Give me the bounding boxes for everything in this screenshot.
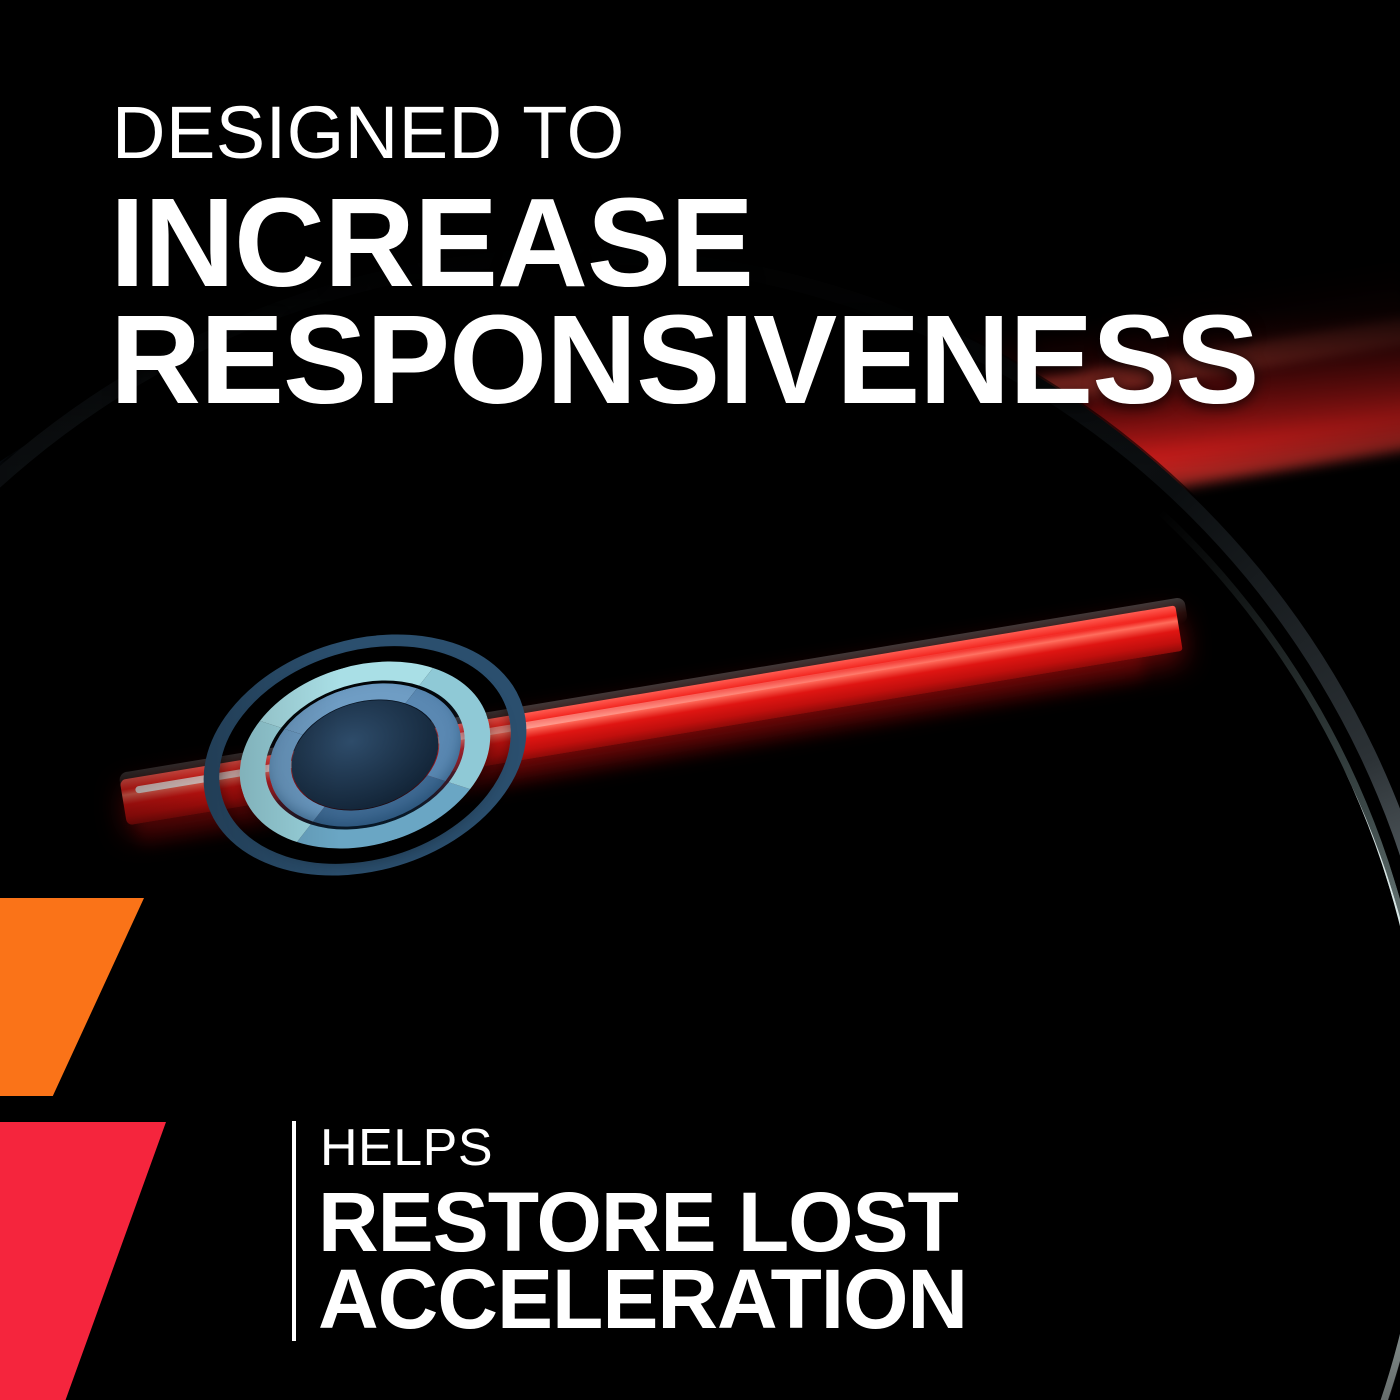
callout-line-2: ACCELERATION	[318, 1262, 967, 1338]
callout-kicker: HELPS	[320, 1122, 493, 1174]
headline-line-1: INCREASE	[110, 186, 753, 299]
callout-vertical-rule	[292, 1121, 296, 1341]
headline-kicker: DESIGNED TO	[112, 96, 625, 170]
promo-graphic: 3 6 7 8 1000 DESIGNED TO INCREASE RESPON…	[0, 0, 1400, 1400]
callout-line-1: RESTORE LOST	[318, 1185, 958, 1261]
headline-line-2: RESPONSIVENESS	[110, 303, 1258, 416]
